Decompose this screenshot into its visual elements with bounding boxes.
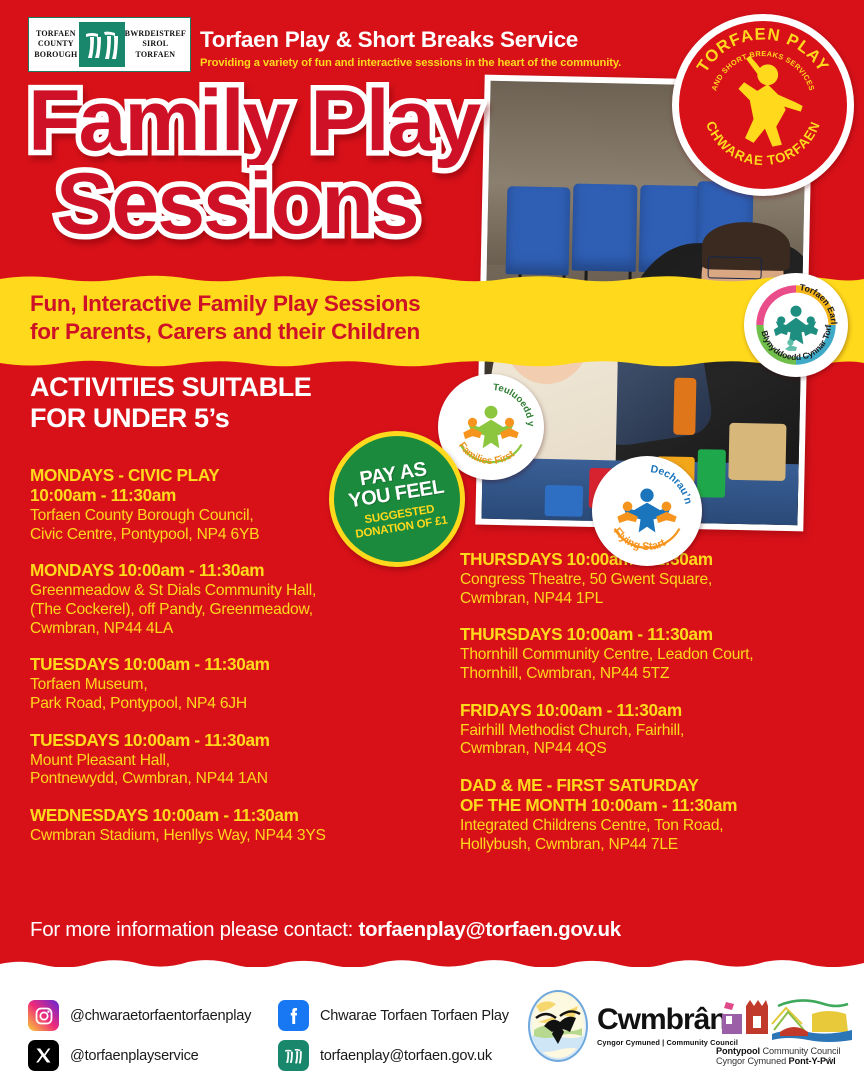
session-address-line: Park Road, Pontypool, NP4 6JH	[30, 695, 435, 714]
yellow-strapline-banner: Fun, Interactive Family Play Sessions fo…	[0, 282, 864, 360]
photo-chair	[572, 183, 637, 272]
session-address-line: Pontnewydd, Cwmbran, NP44 1AN	[30, 770, 435, 789]
logo-line: COUNTY	[38, 39, 74, 50]
logo-line: SIROL	[142, 39, 168, 50]
footer-torn-edge	[0, 957, 864, 971]
social-x-label: @torfaenplayservice	[70, 1048, 199, 1064]
pontypool-rest-en: Community Council	[760, 1046, 840, 1056]
session-address-line: (The Cockerel), off Pandy, Greenmeadow,	[30, 601, 435, 620]
families-first-badge-art: Teuluoedd yn Gyntaf Families First	[442, 374, 540, 480]
session-address-line: Torfaen Museum,	[30, 676, 435, 695]
session-address: Mount Pleasant Hall,Pontnewydd, Cwmbran,…	[30, 752, 435, 789]
photo-toy	[545, 485, 584, 516]
logo-line: BOROUGH	[34, 50, 77, 61]
activities-line-1: ACTIVITIES SUITABLE	[30, 372, 311, 403]
session-title-line: FRIDAYS 10:00am - 11:30am	[460, 701, 850, 721]
session-address-line: Cwmbran, NP44 4QS	[460, 740, 850, 759]
session-entry: MONDAYS 10:00am - 11:30amGreenmeadow & S…	[30, 561, 435, 638]
session-title-line: THURSDAYS 10:00am - 11:30am	[460, 625, 850, 645]
torfaen-council-logo: TORFAEN COUNTY BOROUGH BWRDEISTREF SIROL…	[28, 17, 191, 72]
session-address-line: Greenmeadow & St Dials Community Hall,	[30, 582, 435, 601]
logo-text-welsh-left: TORFAEN COUNTY BOROUGH	[33, 22, 79, 67]
pontypool-label-cy: Cyngor Cymuned Pont-Y-Pŵl	[716, 1056, 856, 1066]
pontypool-community-council-logo: Pontypool Community Council Cyngor Cymun…	[716, 994, 856, 1066]
badge-ring-text: TORFAEN PLAY CHWARAE TORFAEN AND SHORT B…	[679, 21, 847, 189]
session-address: Fairhill Methodist Church, Fairhill,Cwmb…	[460, 722, 850, 759]
session-title: TUESDAYS 10:00am - 11:30am	[30, 731, 435, 751]
session-address: Thornhill Community Centre, Leadon Court…	[460, 646, 850, 683]
service-title: Torfaen Play & Short Breaks Service	[200, 27, 578, 53]
pontypool-crest-icon	[716, 994, 856, 1046]
facebook-icon	[278, 1000, 309, 1031]
strapline-text: Fun, Interactive Family Play Sessions fo…	[30, 290, 420, 346]
session-title: TUESDAYS 10:00am - 11:30am	[30, 655, 435, 675]
pontypool-rest-cy: Cyngor Cymuned	[716, 1056, 789, 1066]
activities-heading: ACTIVITIES SUITABLE FOR UNDER 5’s	[30, 372, 311, 435]
social-x-twitter[interactable]: @torfaenplayservice	[28, 1040, 199, 1071]
torfaen-early-years-badge: Torfaen Early Years Blynyddoedd Cynnar T…	[744, 273, 848, 377]
photo-toy	[697, 449, 726, 498]
pontypool-label-en: Pontypool Community Council	[716, 1046, 856, 1056]
poster-root: TORFAEN COUNTY BOROUGH BWRDEISTREF SIROL…	[0, 0, 864, 1080]
activities-line-2: FOR UNDER 5’s	[30, 403, 311, 434]
strapline-line-1: Fun, Interactive Family Play Sessions	[30, 290, 420, 318]
banner-bottom-edge	[0, 359, 864, 368]
session-title-line: DAD & ME - FIRST SATURDAY	[460, 776, 850, 796]
session-title-line: MONDAYS 10:00am - 11:30am	[30, 561, 435, 581]
social-facebook-label: Chwarae Torfaen Torfaen Play	[320, 1008, 509, 1024]
session-title-line: TUESDAYS 10:00am - 11:30am	[30, 655, 435, 675]
session-entry: TUESDAYS 10:00am - 11:30amTorfaen Museum…	[30, 655, 435, 713]
poster-title: Family Play Sessions	[28, 80, 479, 245]
social-instagram[interactable]: @chwaraetorfaentorfaenplay	[28, 1000, 251, 1031]
strapline-line-2: for Parents, Carers and their Children	[30, 318, 420, 346]
instagram-icon	[28, 1000, 59, 1031]
logo-line: TORFAEN	[135, 50, 175, 61]
session-title: DAD & ME - FIRST SATURDAYOF THE MONTH 10…	[460, 776, 850, 816]
social-email[interactable]: torfaenplay@torfaen.gov.uk	[278, 1040, 492, 1071]
session-address-line: Cwmbran, NP44 1PL	[460, 590, 850, 609]
session-entry: TUESDAYS 10:00am - 11:30amMount Pleasant…	[30, 731, 435, 789]
session-address-line: Mount Pleasant Hall,	[30, 752, 435, 771]
pontypool-bold-en: Pontypool	[716, 1046, 760, 1056]
flying-start-badge: Dechrau’n Deg Flying Start	[592, 456, 702, 566]
session-entry: WEDNESDAYS 10:00am - 11:30amCwmbran Stad…	[30, 806, 435, 846]
contact-email[interactable]: torfaenplay@torfaen.gov.uk	[358, 918, 620, 941]
title-line-1: Family Play	[28, 73, 479, 169]
session-address-line: Congress Theatre, 50 Gwent Square,	[460, 571, 850, 590]
flying-start-badge-art: Dechrau’n Deg Flying Start	[596, 456, 698, 566]
photo-toy	[673, 378, 696, 435]
session-address: Torfaen Museum,Park Road, Pontypool, NP4…	[30, 676, 435, 713]
session-title: FRIDAYS 10:00am - 11:30am	[460, 701, 850, 721]
session-entry: THURSDAYS 10:00am - 11:30amThornhill Com…	[460, 625, 850, 683]
session-address-line: Thornhill Community Centre, Leadon Court…	[460, 646, 850, 665]
contact-prefix: For more information please contact:	[30, 918, 358, 941]
pontypool-bold-cy: Pont-Y-Pŵl	[789, 1056, 836, 1066]
session-address: Greenmeadow & St Dials Community Hall,(T…	[30, 582, 435, 638]
email-icon	[278, 1040, 309, 1071]
service-subtitle: Providing a variety of fun and interacti…	[200, 57, 621, 69]
session-entry: FRIDAYS 10:00am - 11:30amFairhill Method…	[460, 701, 850, 759]
session-title: MONDAYS 10:00am - 11:30am	[30, 561, 435, 581]
session-entry: DAD & ME - FIRST SATURDAYOF THE MONTH 10…	[460, 776, 850, 854]
session-title-line: WEDNESDAYS 10:00am - 11:30am	[30, 806, 435, 826]
logo-line: BWRDEISTREF	[125, 29, 186, 40]
session-title: WEDNESDAYS 10:00am - 11:30am	[30, 806, 435, 826]
session-address-line: Thornhill, Cwmbran, NP44 5TZ	[460, 665, 850, 684]
session-address-line: Fairhill Methodist Church, Fairhill,	[460, 722, 850, 741]
cwmbran-community-council-logo: Cwmbrân Cyngor Cymuned | Community Counc…	[528, 990, 738, 1062]
session-title: THURSDAYS 10:00am - 11:30am	[460, 625, 850, 645]
x-twitter-icon	[28, 1040, 59, 1071]
session-address-line: Hollybush, Cwmbran, NP44 7LE	[460, 836, 850, 855]
early-years-badge-art: Torfaen Early Years Blynyddoedd Cynnar T…	[748, 273, 844, 377]
session-address: Cwmbran Stadium, Henllys Way, NP44 3YS	[30, 827, 435, 846]
cwmbran-crest-icon	[528, 990, 588, 1062]
session-title-line: TUESDAYS 10:00am - 11:30am	[30, 731, 435, 751]
chwarae-torfaen-play-badge: TORFAEN PLAY CHWARAE TORFAEN AND SHORT B…	[672, 14, 854, 196]
session-address: Congress Theatre, 50 Gwent Square,Cwmbra…	[460, 571, 850, 608]
photo-toy	[729, 423, 787, 481]
session-address-line: Integrated Childrens Centre, Ton Road,	[460, 817, 850, 836]
logo-text-welsh-right: BWRDEISTREF SIROL TORFAEN	[125, 22, 186, 67]
contact-line: For more information please contact: tor…	[30, 918, 621, 942]
session-title-line: OF THE MONTH 10:00am - 11:30am	[460, 796, 850, 816]
badge-arc-bottom: CHWARAE TORFAEN	[703, 119, 823, 168]
sessions-column-right: THURSDAYS 10:00am - 11:30amCongress Thea…	[460, 550, 850, 871]
svg-text:CHWARAE TORFAEN: CHWARAE TORFAEN	[703, 119, 823, 168]
session-address-line: Cwmbran Stadium, Henllys Way, NP44 3YS	[30, 827, 435, 846]
footer: @chwaraetorfaentorfaenplay @torfaenplays…	[0, 967, 864, 1080]
banner-top-edge	[0, 274, 864, 283]
torfaen-monogram-icon	[79, 22, 125, 67]
logo-line: TORFAEN	[36, 29, 76, 40]
social-instagram-label: @chwaraetorfaentorfaenplay	[70, 1008, 251, 1024]
social-email-label: torfaenplay@torfaen.gov.uk	[320, 1048, 492, 1064]
social-facebook[interactable]: Chwarae Torfaen Torfaen Play	[278, 1000, 509, 1031]
session-address: Integrated Childrens Centre, Ton Road,Ho…	[460, 817, 850, 854]
photo-chair	[506, 186, 571, 275]
poster-title-text: Family Play Sessions	[28, 80, 479, 245]
session-address-line: Cwmbran, NP44 4LA	[30, 620, 435, 639]
title-line-2: Sessions	[56, 163, 479, 246]
